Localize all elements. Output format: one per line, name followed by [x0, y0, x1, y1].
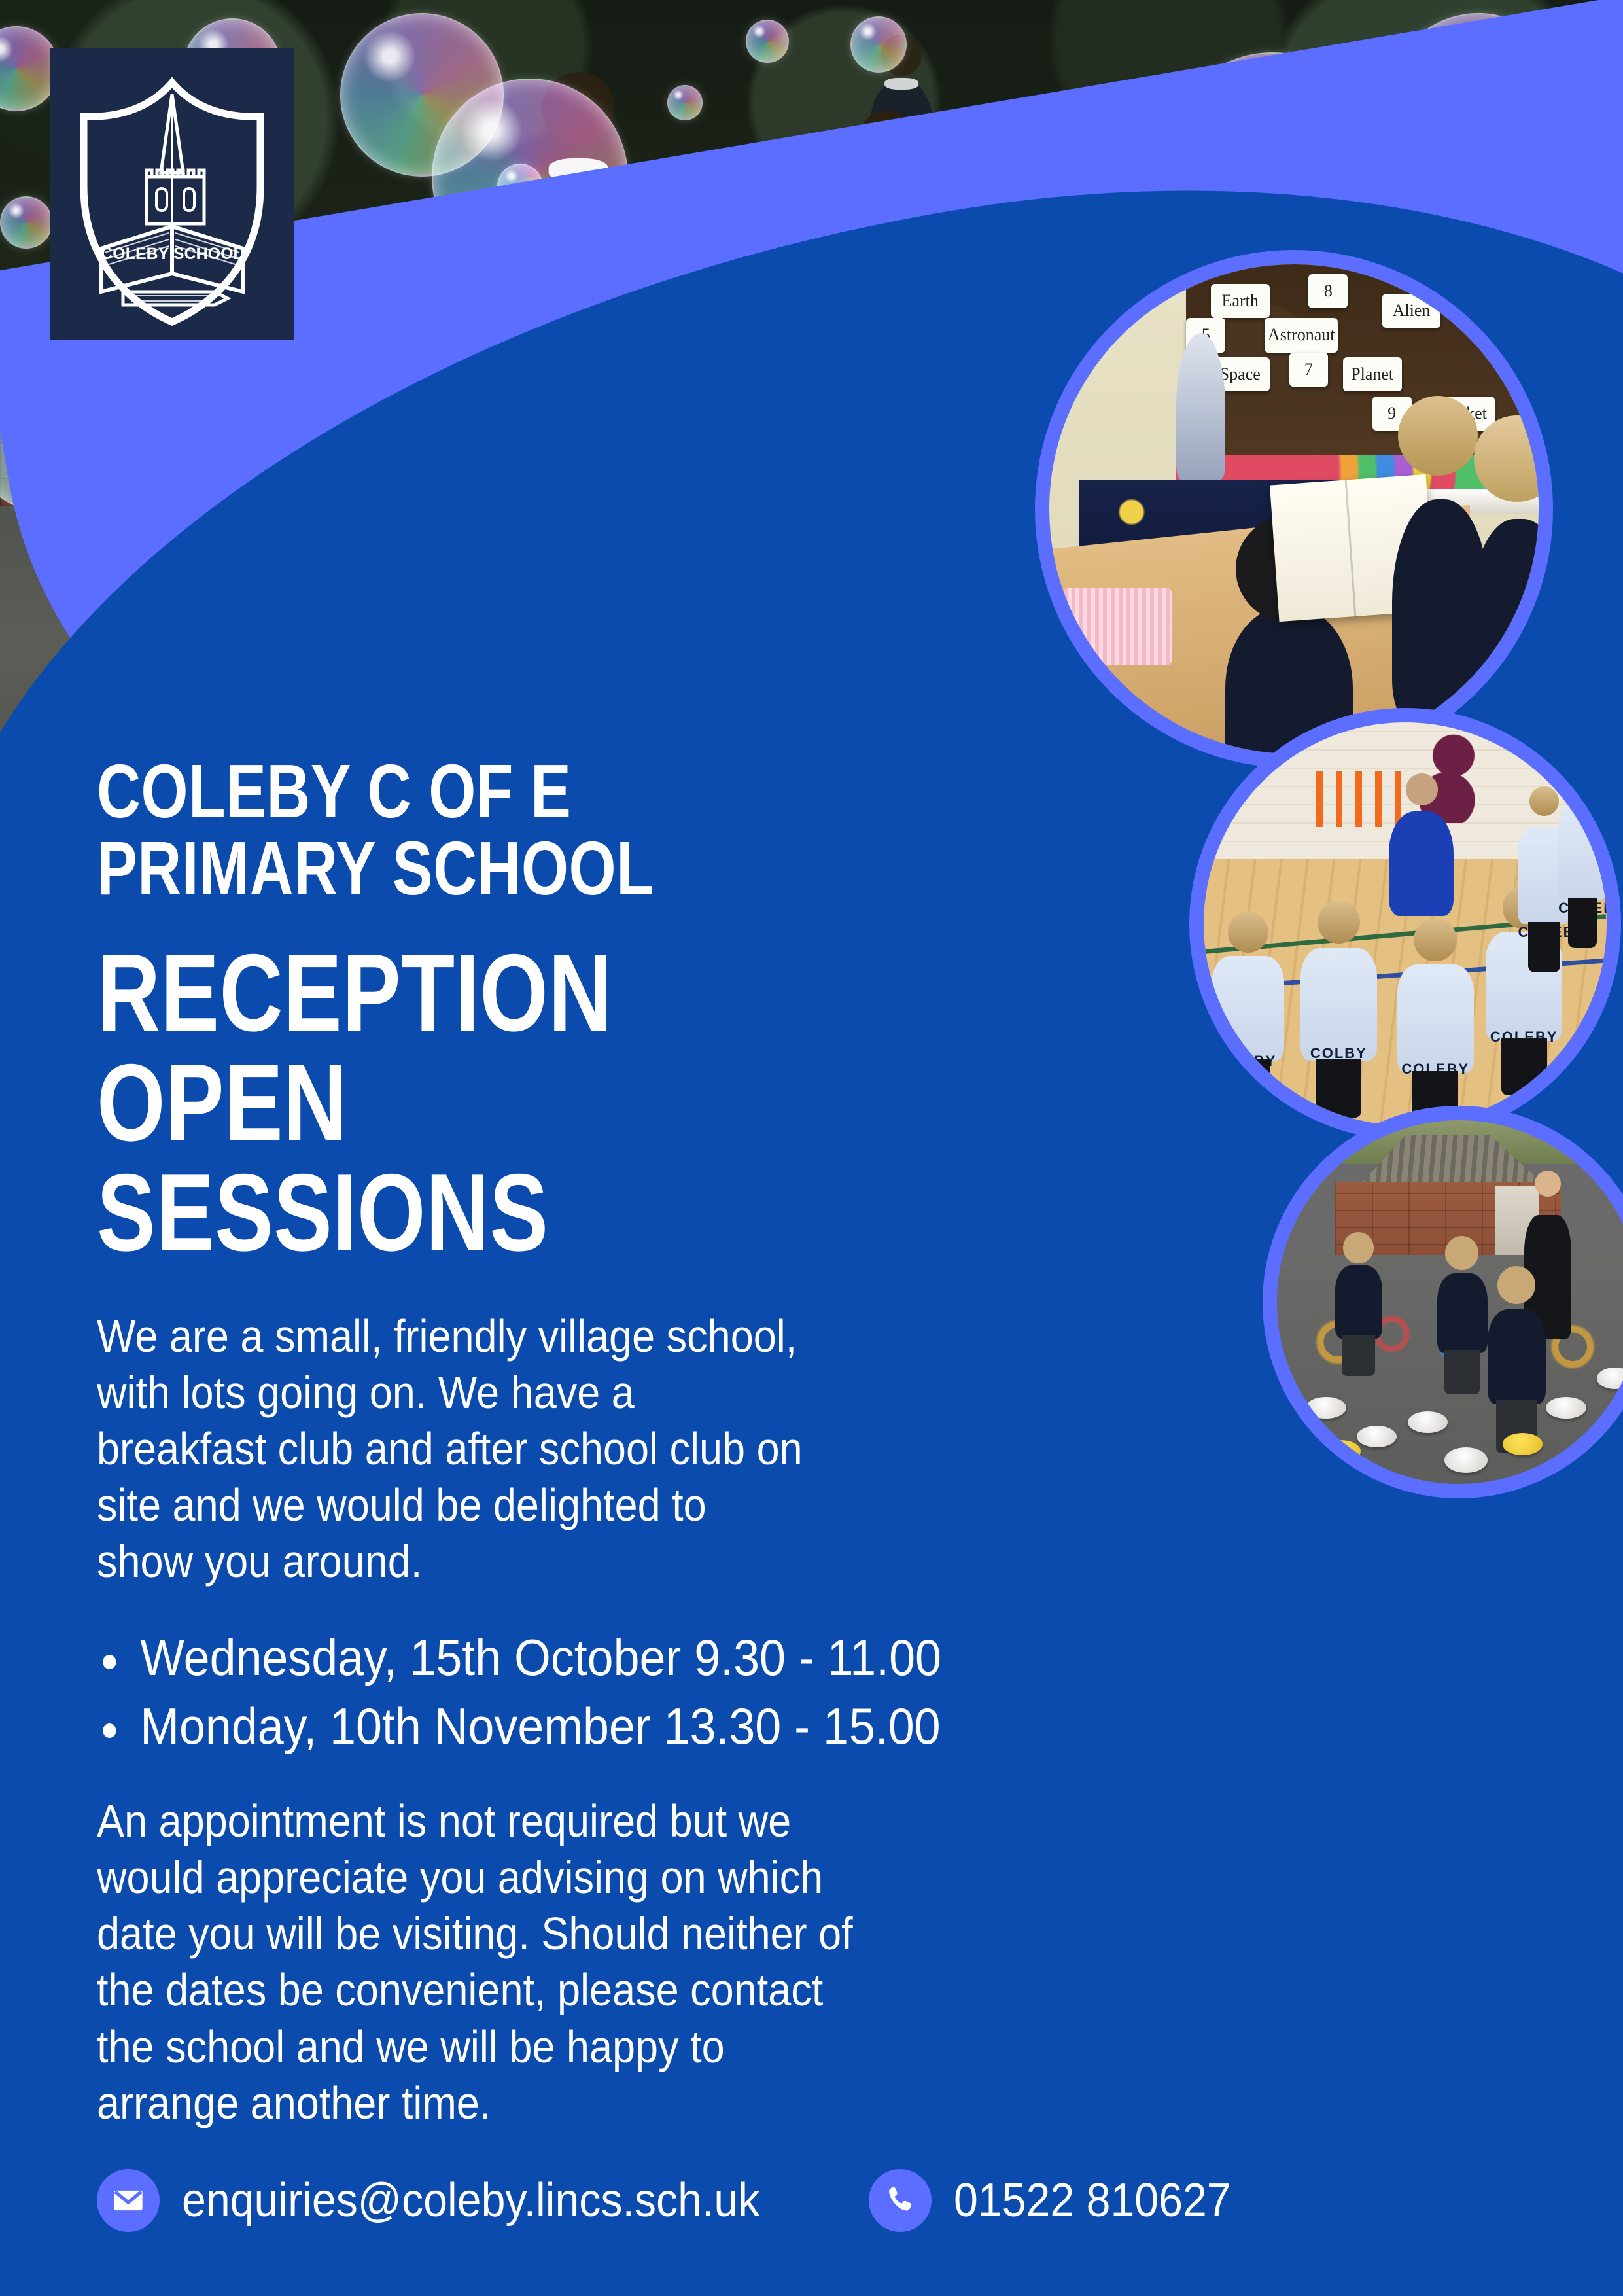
contact-email[interactable]: enquiries@coleby.lincs.sch.uk — [97, 2169, 810, 2232]
pupil-pe-shirt: COLEBY — [1397, 964, 1474, 1073]
crest-book-text: COLEBY SCHOOL — [101, 245, 243, 263]
pupil-pe-shirt: COLEBY — [1558, 803, 1607, 900]
list-item: Monday, 10th November 13.30 - 15.00 — [97, 1692, 983, 1761]
school-crest-logo: COLEBY SCHOOL — [50, 48, 294, 340]
floor-spot-marker — [1321, 1440, 1361, 1462]
poster-root: COLEBY SCHOOL Earth 8 Astronaut Alien 10… — [0, 0, 1623, 2296]
display-card: Astronaut — [1265, 318, 1338, 352]
classroom-scene: Earth 8 Astronaut Alien 10 5 Space 7 Pla… — [1049, 264, 1539, 754]
contact-row: enquiries@coleby.lincs.sch.uk 01522 8106… — [97, 2169, 1060, 2232]
envelope-icon — [97, 2169, 160, 2232]
pupil-pe-shirt: COLBY — [1300, 948, 1377, 1061]
page-title: RECEPTION OPEN SESSIONS — [97, 938, 867, 1267]
pupil — [1488, 1309, 1546, 1404]
email-address[interactable]: enquiries@coleby.lincs.sch.uk — [182, 2177, 759, 2224]
floor-spot-marker — [1408, 1411, 1448, 1433]
pe-coach — [1389, 811, 1454, 916]
intro-paragraph: We are a small, friendly village school,… — [97, 1308, 809, 1589]
pupil-pe-shirt: COLBY — [1212, 956, 1284, 1061]
display-card: 8 — [1308, 274, 1348, 308]
floor-spot-marker — [1306, 1397, 1346, 1419]
poster-text-content: COLEBY C OF E PRIMARY SCHOOL RECEPTION O… — [0, 752, 1060, 2232]
toy-rocket — [1176, 333, 1225, 480]
phone-icon — [869, 2169, 932, 2232]
pupil — [1437, 1273, 1488, 1353]
photo-circle-sports-hall: COLBY COLBY COLEBY COLEBY COLEBY COLEBY — [1189, 708, 1621, 1140]
pink-storage-basket — [1064, 588, 1172, 666]
floor-spot-marker — [1503, 1433, 1543, 1455]
appointment-note-paragraph: An appointment is not required but we wo… — [97, 1793, 856, 2131]
photo-circle-playground — [1263, 1106, 1623, 1498]
school-name: COLEBY C OF E PRIMARY SCHOOL — [97, 752, 867, 908]
floor-spot-marker — [1546, 1397, 1586, 1419]
photo-circle-classroom-reading: Earth 8 Astronaut Alien 10 5 Space 7 Pla… — [1035, 250, 1553, 768]
playground-scene — [1277, 1120, 1623, 1484]
display-card: Alien — [1382, 294, 1441, 328]
display-card: Earth — [1211, 284, 1270, 318]
soap-bubble — [667, 85, 703, 120]
contact-phone[interactable]: 01522 810627 — [869, 2169, 1255, 2232]
display-card: 7 — [1289, 353, 1329, 387]
pupil — [1335, 1265, 1382, 1338]
orange-skittles — [1316, 771, 1405, 827]
display-card: 10 — [1460, 284, 1509, 323]
phone-number[interactable]: 01522 810627 — [954, 2177, 1231, 2224]
display-card: Planet — [1343, 357, 1402, 391]
floor-spot-marker — [1582, 1455, 1623, 1481]
soap-bubble — [850, 16, 907, 73]
soap-bubble — [746, 20, 789, 63]
session-dates-list: Wednesday, 15th October 9.30 - 11.00 Mon… — [97, 1623, 1060, 1760]
soap-bubble — [0, 196, 52, 249]
list-item: Wednesday, 15th October 9.30 - 11.00 — [97, 1623, 983, 1692]
sports-hall-scene: COLBY COLBY COLEBY COLEBY COLEBY COLEBY — [1204, 722, 1607, 1125]
